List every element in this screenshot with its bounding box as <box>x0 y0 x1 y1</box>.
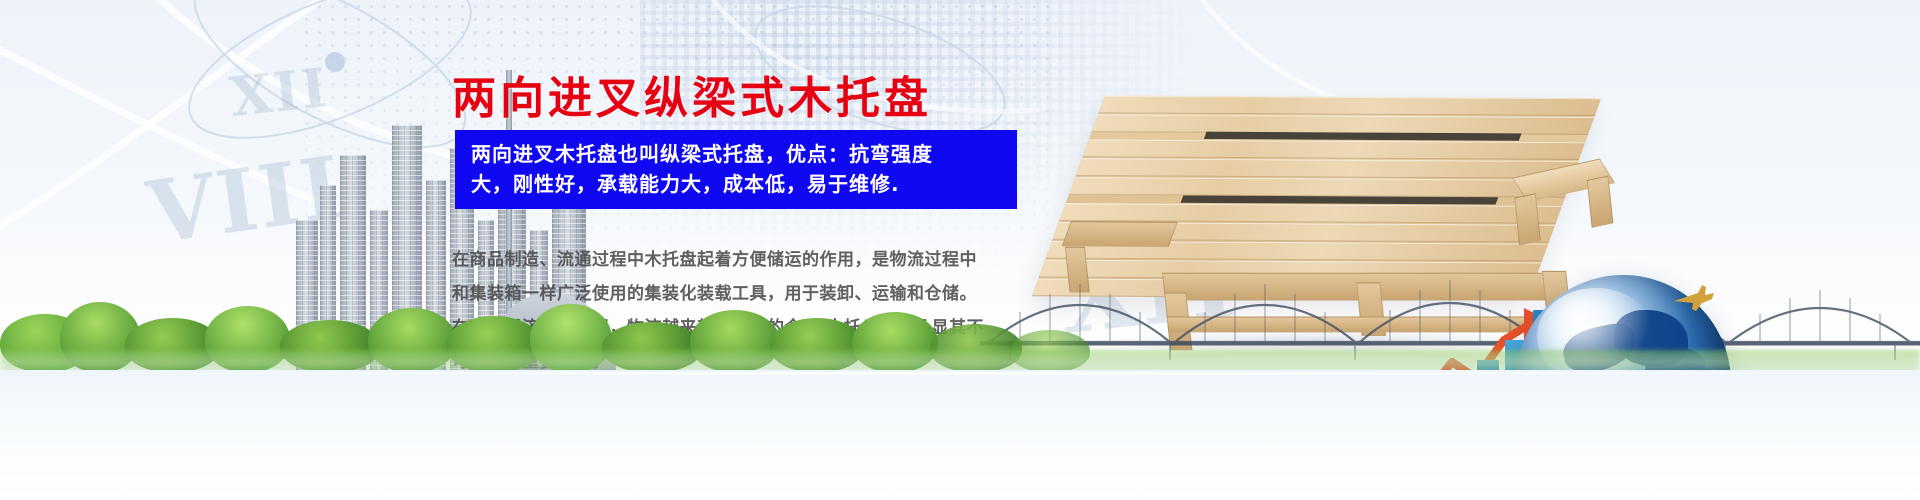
page-title: 两向进叉纵梁式木托盘 <box>452 62 932 126</box>
water-highlight-line <box>0 372 1920 375</box>
callout-line-1: 两向进叉木托盘也叫纵梁式托盘，优点：抗弯强度 <box>471 139 1003 169</box>
product-banner: VIII XII XII IX 两向进叉纵梁式木托盘 两向进叉木托盘也叫纵梁式托… <box>0 0 1920 500</box>
callout-line-2: 大，刚性好，承载能力大，成本低，易于维修. <box>471 169 1003 199</box>
water-surface <box>0 370 1920 500</box>
highlight-callout: 两向进叉木托盘也叫纵梁式托盘，优点：抗弯强度 大，刚性好，承载能力大，成本低，易… <box>455 130 1017 209</box>
